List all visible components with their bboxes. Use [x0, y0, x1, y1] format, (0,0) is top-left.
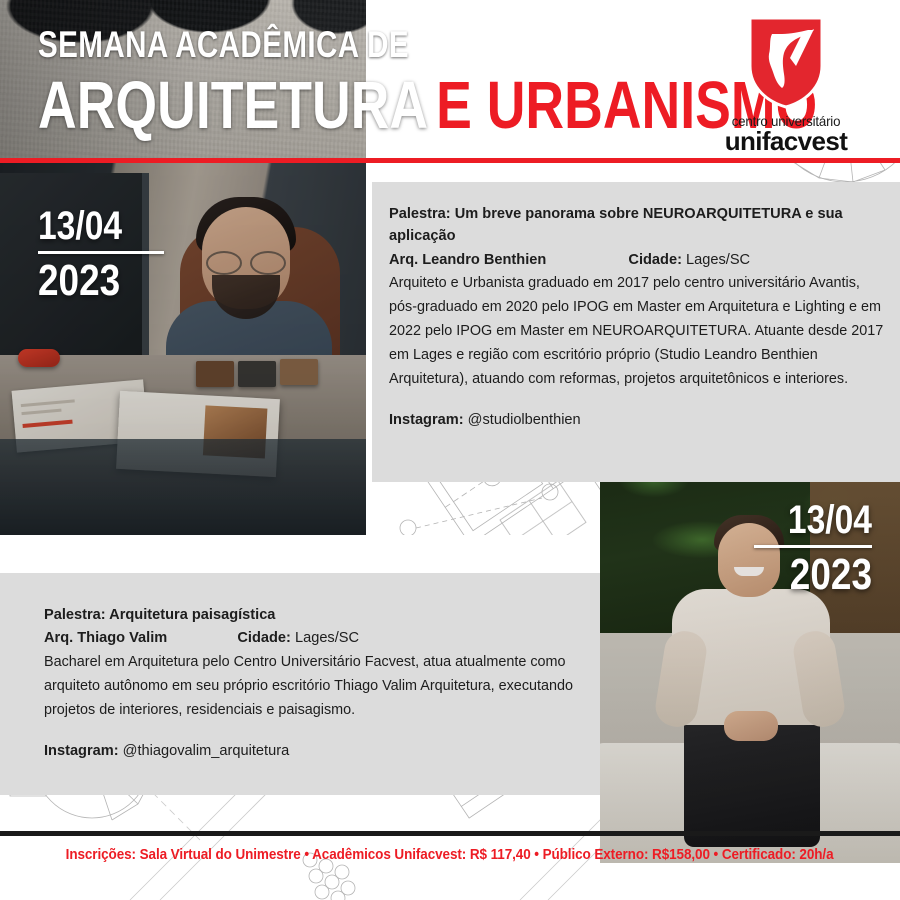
registration-info-text: Inscrições: Sala Virtual do Unimestre • … [0, 846, 900, 863]
session-1-date-year: 2023 [38, 259, 144, 303]
session-2-biography: Bacharel em Arquitetura pelo Centro Univ… [44, 651, 584, 723]
event-title-arquitetura: ARQUITETURA [38, 72, 428, 139]
session-1-lecture-line: Palestra: Um breve panorama sobre NEUROA… [389, 203, 887, 248]
session-2-city-value: Lages/SC [295, 630, 359, 646]
gap-strip-upper [0, 535, 600, 573]
instagram-label: Instagram: [389, 412, 464, 428]
session-2-instagram-handle[interactable]: @thiagovalim_arquitetura [123, 743, 290, 759]
session-1-date-stamp: 13/04 2023 [38, 206, 164, 303]
date-divider-rule [38, 251, 164, 254]
session-2-text-content: Palestra: Arquitetura paisagística Arq. … [44, 604, 584, 759]
poster-canvas: SEMANA ACADÊMICA DE ARQUITETURA E URBANI… [0, 0, 900, 900]
event-title-line1: SEMANA ACADÊMICA DE [38, 26, 817, 63]
session-1-biography: Arquiteto e Urbanista graduado em 2017 p… [389, 272, 887, 392]
session-1-city-value: Lages/SC [686, 252, 750, 268]
registration-info-label: Inscrições: Sala Virtual do Unimestre • … [66, 846, 834, 863]
poster-header: SEMANA ACADÊMICA DE ARQUITETURA E URBANI… [0, 0, 900, 158]
session-1-lecture-title: Um breve panorama sobre NEUROARQUITETURA… [389, 206, 843, 244]
session-1-text-content: Palestra: Um breve panorama sobre NEUROA… [389, 203, 887, 428]
lecture-label: Palestra: [389, 206, 451, 222]
instagram-label: Instagram: [44, 743, 119, 759]
logo-subtitle-line1: centro universitário [710, 113, 862, 129]
session-2-lecture-line: Palestra: Arquitetura paisagística [44, 604, 584, 626]
shield-icon [746, 14, 826, 110]
event-title-line2: ARQUITETURA E URBANISMO [38, 72, 817, 139]
footer-black-divider [0, 831, 900, 836]
header-red-divider [0, 158, 900, 163]
session-1-instagram-row: Instagram: @studiolbenthien [389, 412, 887, 428]
session-1-speaker-name: Arq. Leandro Benthien [389, 252, 546, 268]
session-1-instagram-handle[interactable]: @studiolbenthien [468, 412, 581, 428]
city-label: Cidade: [237, 630, 291, 646]
session-2-speaker-name: Arq. Thiago Valim [44, 630, 167, 646]
session-2-date-day: 13/04 [773, 500, 872, 540]
session-2-instagram-row: Instagram: @thiagovalim_arquitetura [44, 743, 584, 759]
session-1-date-day: 13/04 [38, 206, 144, 246]
session-1-speaker-row: Arq. Leandro Benthien Cidade: Lages/SC [389, 249, 887, 272]
logo-wordmark: unifacvest [706, 128, 866, 154]
session-2-date-stamp: 13/04 2023 [754, 500, 872, 597]
unifacvest-logo: centro universitário unifacvest [706, 14, 866, 154]
session-2-lecture-title: Arquitetura paisagística [109, 607, 275, 623]
session-2-speaker-row: Arq. Thiago Valim Cidade: Lages/SC [44, 627, 584, 650]
city-label: Cidade: [628, 252, 682, 268]
session-2-date-year: 2023 [773, 553, 872, 597]
date-divider-rule [754, 545, 872, 548]
lecture-label: Palestra: [44, 607, 106, 623]
